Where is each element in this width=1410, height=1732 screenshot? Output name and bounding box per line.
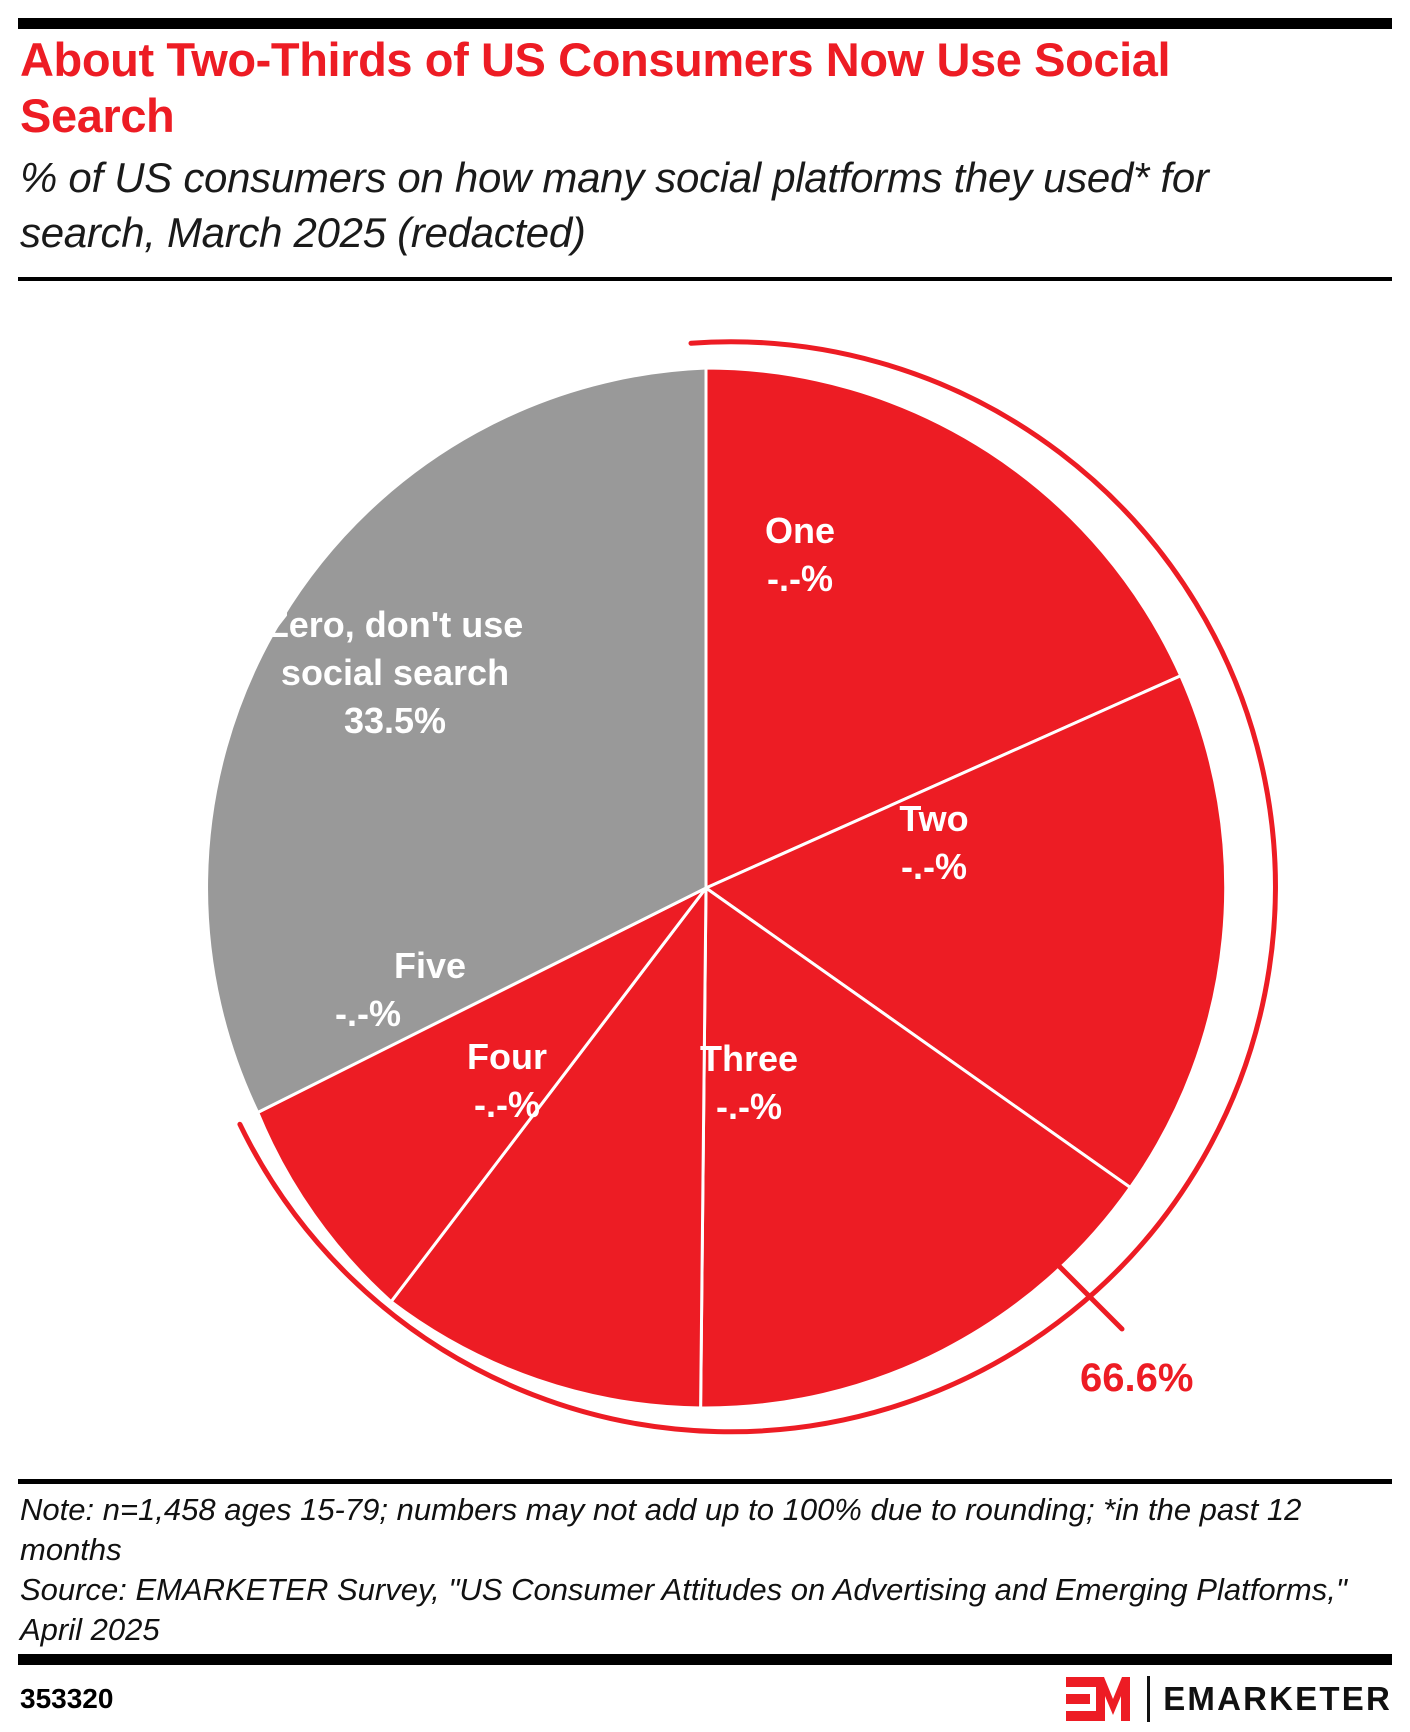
infographic-page: About Two-Thirds of US Consumers Now Use…	[0, 0, 1410, 1732]
brand-name: EMARKETER	[1163, 1680, 1392, 1718]
note-text: Note: n=1,458 ages 15-79; numbers may no…	[20, 1490, 1360, 1570]
pie-chart-svg: 66.6% One -.-% Two -.-% Three -.-% Four …	[0, 281, 1410, 1471]
chart-id: 353320	[20, 1683, 113, 1715]
page-subtitle: % of US consumers on how many social pla…	[20, 150, 1320, 260]
slice-label-zero-line1: Zero, don't use	[267, 604, 524, 645]
note-divider-rule	[18, 1479, 1392, 1484]
bottom-rule	[18, 1654, 1392, 1665]
emarketer-logo[interactable]: EMARKETER	[1066, 1674, 1392, 1724]
slice-value-five: -.-%	[335, 993, 401, 1034]
pie-chart: 66.6% One -.-% Two -.-% Three -.-% Four …	[0, 281, 1410, 1471]
slice-value-zero: 33.5%	[344, 700, 446, 741]
source-text: Source: EMARKETER Survey, "US Consumer A…	[20, 1570, 1360, 1650]
em-monogram-svg	[1066, 1676, 1134, 1722]
top-rule	[18, 18, 1392, 29]
slice-value-one: -.-%	[767, 558, 833, 599]
slice-label-three: Three	[700, 1038, 798, 1079]
slice-label-two: Two	[899, 798, 968, 839]
em-monogram-icon	[1066, 1676, 1134, 1722]
slice-label-five: Five	[394, 945, 466, 986]
slice-label-zero-line2: social search	[281, 652, 509, 693]
total-share-label: 66.6%	[1080, 1356, 1193, 1400]
slice-value-three: -.-%	[716, 1086, 782, 1127]
slice-label-four: Four	[467, 1036, 547, 1077]
footnotes: Note: n=1,458 ages 15-79; numbers may no…	[20, 1490, 1360, 1650]
slice-value-two: -.-%	[901, 846, 967, 887]
page-title: About Two-Thirds of US Consumers Now Use…	[20, 32, 1310, 144]
logo-divider	[1147, 1676, 1150, 1722]
slice-label-one: One	[765, 510, 835, 551]
slice-value-four: -.-%	[474, 1084, 540, 1125]
